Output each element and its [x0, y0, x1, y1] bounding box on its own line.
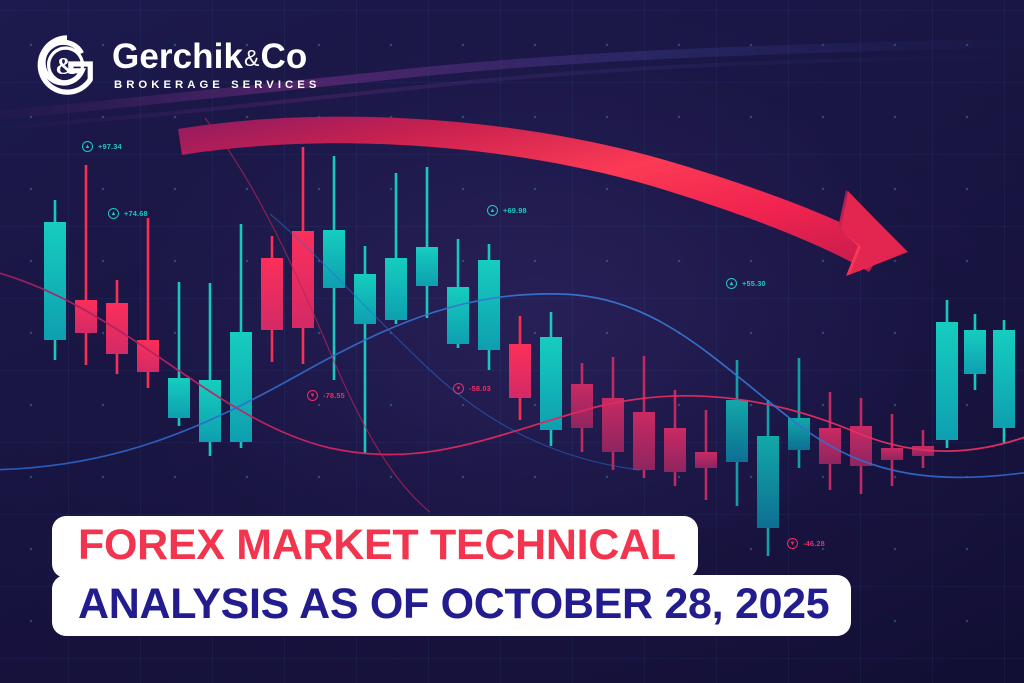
candle-body: [633, 412, 655, 470]
candle-body: [664, 428, 686, 472]
triangle-down-icon: ▼: [453, 383, 464, 394]
candle-body: [230, 332, 252, 442]
price-tag-down: ▼-58.03: [453, 383, 491, 394]
candle-body: [354, 274, 376, 324]
candle-body: [993, 330, 1015, 428]
candle-body: [571, 384, 593, 428]
brand-tagline: BROKERAGE SERVICES: [114, 79, 320, 91]
price-tag-value: +69.98: [503, 206, 527, 215]
price-tag-up: ▲+55.30: [726, 278, 766, 289]
forex-analysis-banner: & Gerchik&Co BROKERAGE SERVICES ▲+97.34▲…: [0, 0, 1024, 683]
candle-body: [936, 322, 958, 440]
candle-body: [695, 452, 717, 468]
candle-body: [757, 436, 779, 528]
price-tag-value: -58.03: [469, 384, 491, 393]
brand-name: Gerchik&Co: [112, 39, 320, 75]
candle-body: [75, 300, 97, 333]
gerchik-monogram-icon: &: [36, 34, 98, 96]
candle-series: [44, 147, 1015, 556]
candle-body: [385, 258, 407, 320]
candle-body: [540, 337, 562, 430]
triangle-up-icon: ▲: [726, 278, 737, 289]
price-tag-up: ▲+97.34: [82, 141, 122, 152]
candle-body: [261, 258, 283, 330]
price-tag-value: -78.55: [323, 391, 345, 400]
brand-logo[interactable]: & Gerchik&Co BROKERAGE SERVICES: [36, 34, 320, 96]
candle-body: [292, 231, 314, 328]
candle-body: [726, 400, 748, 462]
page-title: FOREX MARKET TECHNICAL ANALYSIS AS OF OC…: [52, 516, 851, 636]
candle-body: [106, 303, 128, 354]
price-tag-up: ▲+74.68: [108, 208, 148, 219]
triangle-up-icon: ▲: [108, 208, 119, 219]
triangle-down-icon: ▼: [307, 390, 318, 401]
candle-body: [964, 330, 986, 374]
price-tag-value: +97.34: [98, 142, 122, 151]
candle-body: [788, 418, 810, 450]
title-line-1: FOREX MARKET TECHNICAL: [52, 516, 698, 577]
downtrend-arrow: [178, 117, 908, 276]
price-tag-value: +74.68: [124, 209, 148, 218]
title-line-2: ANALYSIS AS OF OCTOBER 28, 2025: [52, 575, 851, 636]
candle-body: [881, 448, 903, 460]
price-tag-up: ▲+69.98: [487, 205, 527, 216]
candle-body: [323, 230, 345, 288]
price-tag-down: ▼-78.55: [307, 390, 345, 401]
candle-body: [602, 398, 624, 452]
candle-body: [447, 287, 469, 344]
candle-body: [478, 260, 500, 350]
candle-body: [199, 380, 221, 442]
price-tag-value: +55.30: [742, 279, 766, 288]
triangle-up-icon: ▲: [487, 205, 498, 216]
svg-text:&: &: [55, 53, 75, 80]
candle-body: [44, 222, 66, 340]
candle-body: [509, 344, 531, 398]
triangle-up-icon: ▲: [82, 141, 93, 152]
candle-body: [416, 247, 438, 286]
candle-body: [168, 378, 190, 418]
